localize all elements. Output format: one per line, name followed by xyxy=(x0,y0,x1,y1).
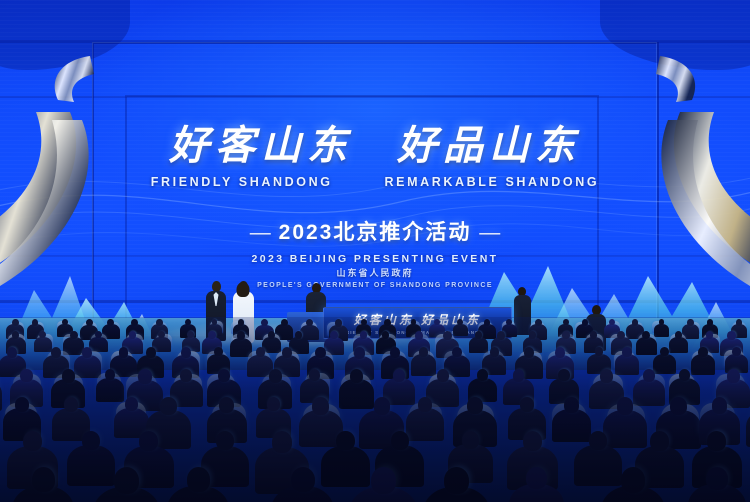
event-photo-scene: 好客山东 好品山东 FRIENDLY SHANDONG REMARKABLE S… xyxy=(0,0,750,502)
audience-shadow-overlay xyxy=(0,317,750,502)
organizer-chinese: 山东省人民政府 xyxy=(0,266,750,279)
headline-chinese: 好客山东 好品山东 xyxy=(0,126,750,166)
organizer-block: 山东省人民政府 PEOPLE'S GOVERNMENT OF SHANDONG … xyxy=(0,266,750,289)
subtitle-dash-left: — xyxy=(250,221,271,244)
headline-english-right: REMARKABLE SHANDONG xyxy=(385,175,600,189)
hair xyxy=(237,282,250,297)
headline-block: 好客山东 好品山东 FRIENDLY SHANDONG REMARKABLE S… xyxy=(0,126,750,265)
headline-english: FRIENDLY SHANDONG REMARKABLE SHANDONG xyxy=(0,175,750,189)
subtitle-english: 2023 BEIJING PRESENTING EVENT xyxy=(0,253,750,265)
headline-chinese-right: 好品山东 xyxy=(397,126,581,166)
subtitle-dash-right: — xyxy=(479,221,500,244)
headline-english-left: FRIENDLY SHANDONG xyxy=(151,175,333,189)
headline-chinese-left: 好客山东 xyxy=(169,126,353,166)
audience-area xyxy=(0,317,750,502)
organizer-english: PEOPLE'S GOVERNMENT OF SHANDONG PROVINCE xyxy=(0,282,750,289)
subtitle-chinese: — 2023北京推介活动 — xyxy=(0,216,750,246)
subtitle-chinese-text: 2023北京推介活动 xyxy=(279,221,472,244)
